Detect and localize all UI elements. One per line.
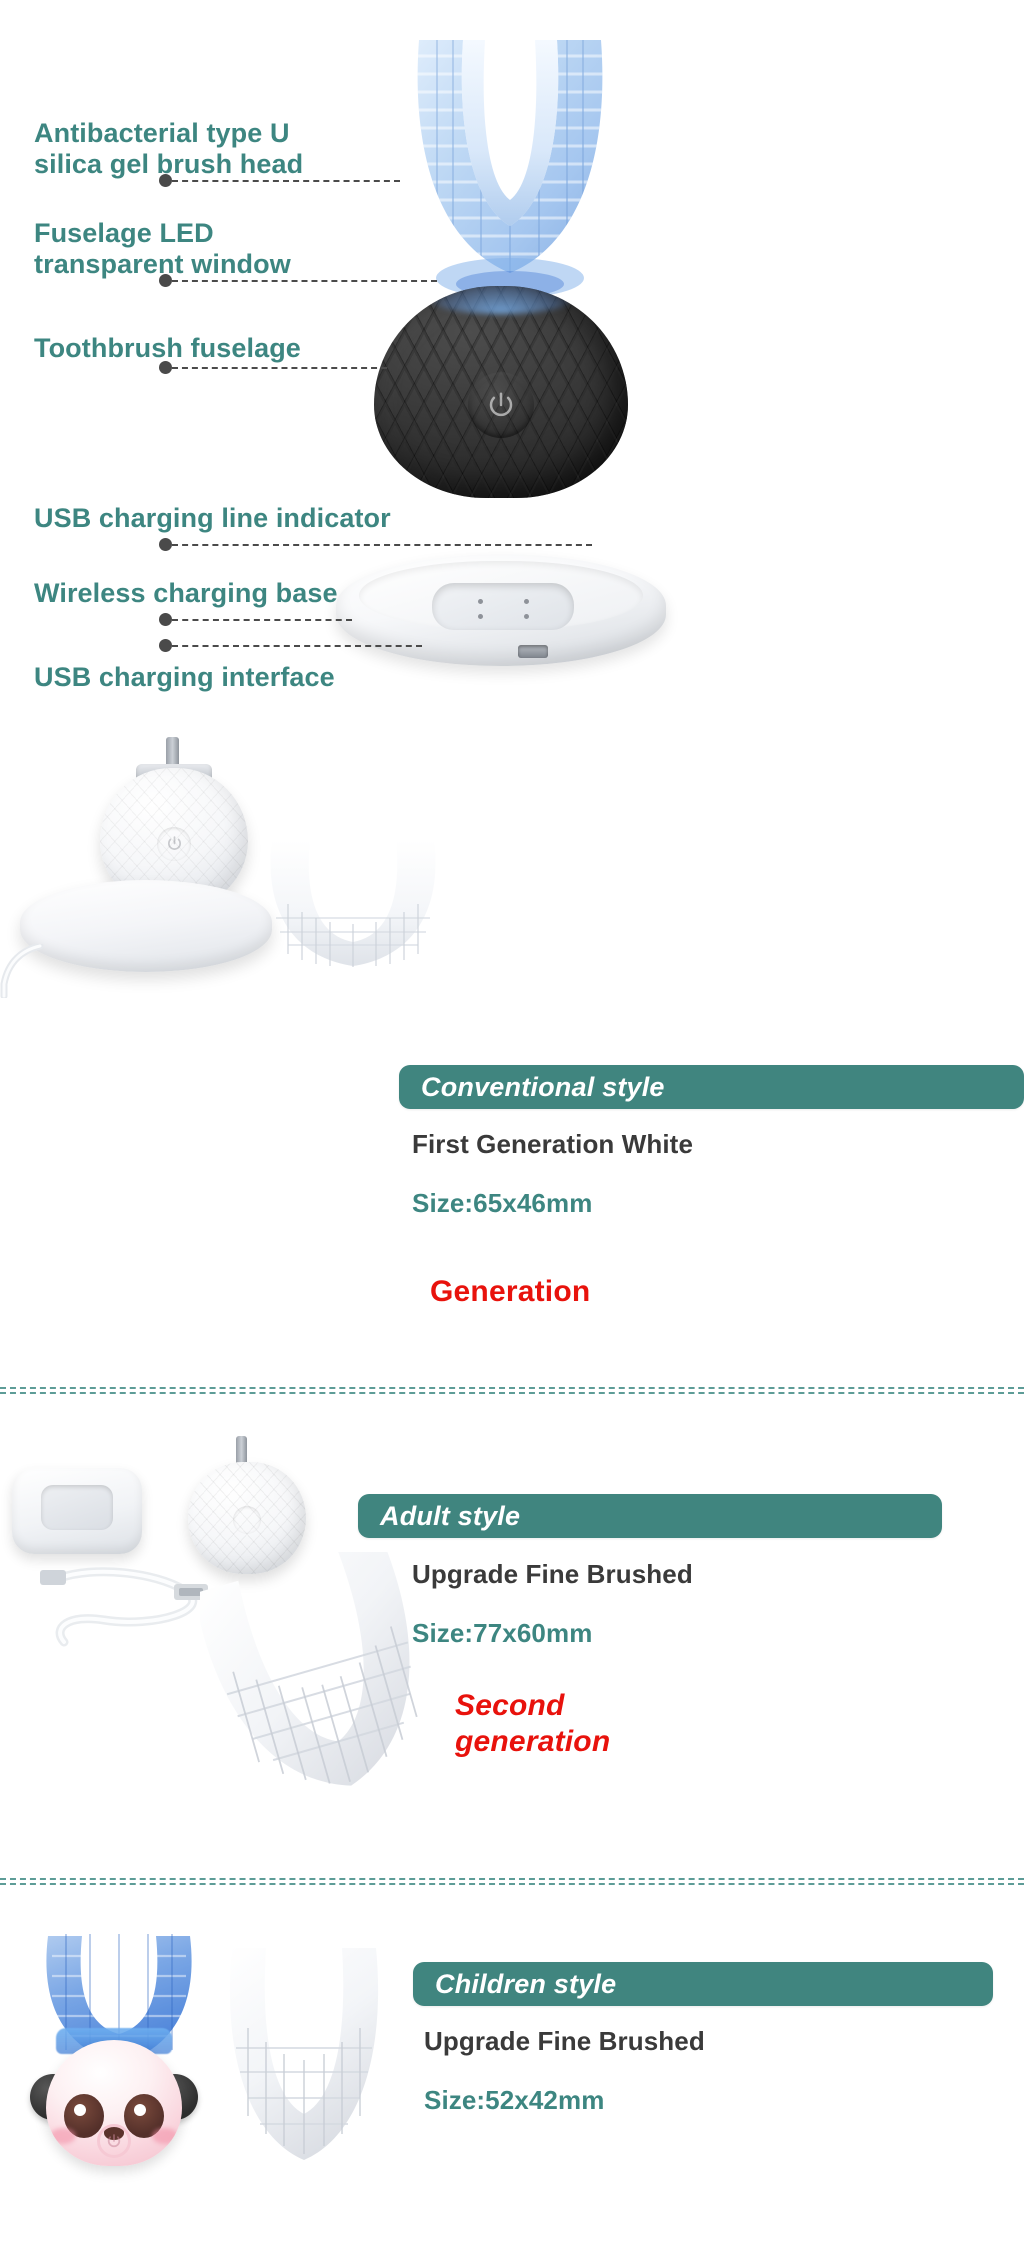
generation-label-conventional: Generation: [430, 1274, 590, 1310]
spec-subtitle-children: Upgrade Fine Brushed: [424, 2026, 705, 2057]
banner-label: Adult style: [380, 1501, 520, 1532]
product-infographic: Antibacterial type U silica gel brush he…: [0, 0, 1024, 2242]
section-divider: [0, 1878, 1024, 1885]
leader-dot: [159, 538, 172, 551]
leader-dot: [159, 361, 172, 374]
callout-led-window: Fuselage LED transparent window: [34, 218, 291, 280]
gen1-charging-base-image: [20, 880, 272, 972]
power-icon: [157, 827, 191, 861]
power-icon: [97, 2124, 131, 2158]
led-glow: [426, 286, 576, 314]
panda-cheek-left: [50, 2128, 76, 2144]
leader-dot: [159, 639, 172, 652]
leader-dot: [159, 274, 172, 287]
leader-line: [172, 280, 437, 282]
gen1-brush-head-image: [258, 832, 448, 977]
callout-usb-line-indicator: USB charging line indicator: [34, 503, 391, 534]
banner-children-style: Children style: [413, 1962, 993, 2006]
leader-dot: [159, 174, 172, 187]
leader-line: [172, 367, 387, 369]
callout-brush-head: Antibacterial type U silica gel brush he…: [34, 118, 303, 180]
banner-conventional-style: Conventional style: [399, 1065, 1024, 1109]
children-spare-head-image: [214, 1940, 394, 2175]
leader-line: [172, 180, 400, 182]
panda-handle-image: [28, 2018, 200, 2168]
generation-label-adult: Second generation: [455, 1688, 610, 1760]
gen2-charging-base-image: [12, 1468, 142, 1554]
leader-dot: [159, 613, 172, 626]
section-divider: [0, 1387, 1024, 1394]
callout-usb-interface: USB charging interface: [34, 662, 335, 693]
spec-subtitle-adult: Upgrade Fine Brushed: [412, 1559, 693, 1590]
banner-label: Conventional style: [421, 1072, 665, 1103]
brush-head-image: [385, 28, 635, 303]
leader-line: [172, 544, 592, 546]
spec-size-conventional: Size:65x46mm: [412, 1188, 592, 1219]
spec-subtitle-conventional: First Generation White: [412, 1129, 693, 1160]
gen1-cable-image: [0, 944, 44, 998]
callout-toothbrush-fuselage: Toothbrush fuselage: [34, 333, 301, 364]
spec-size-adult: Size:77x60mm: [412, 1618, 592, 1649]
spec-size-children: Size:52x42mm: [424, 2085, 604, 2116]
wireless-charging-base-image: [336, 554, 666, 666]
banner-label: Children style: [435, 1969, 616, 2000]
banner-adult-style: Adult style: [358, 1494, 942, 1538]
power-icon: [468, 372, 534, 438]
panda-face: [46, 2040, 182, 2166]
gen2-brush-head-image: [200, 1552, 440, 1807]
callout-wireless-base: Wireless charging base: [34, 578, 338, 609]
leader-line: [172, 645, 422, 647]
panda-cheek-right: [152, 2128, 178, 2144]
leader-line: [172, 619, 352, 621]
power-icon: [233, 1506, 261, 1534]
toothbrush-fuselage-image: [374, 286, 628, 498]
usb-port: [518, 645, 548, 658]
